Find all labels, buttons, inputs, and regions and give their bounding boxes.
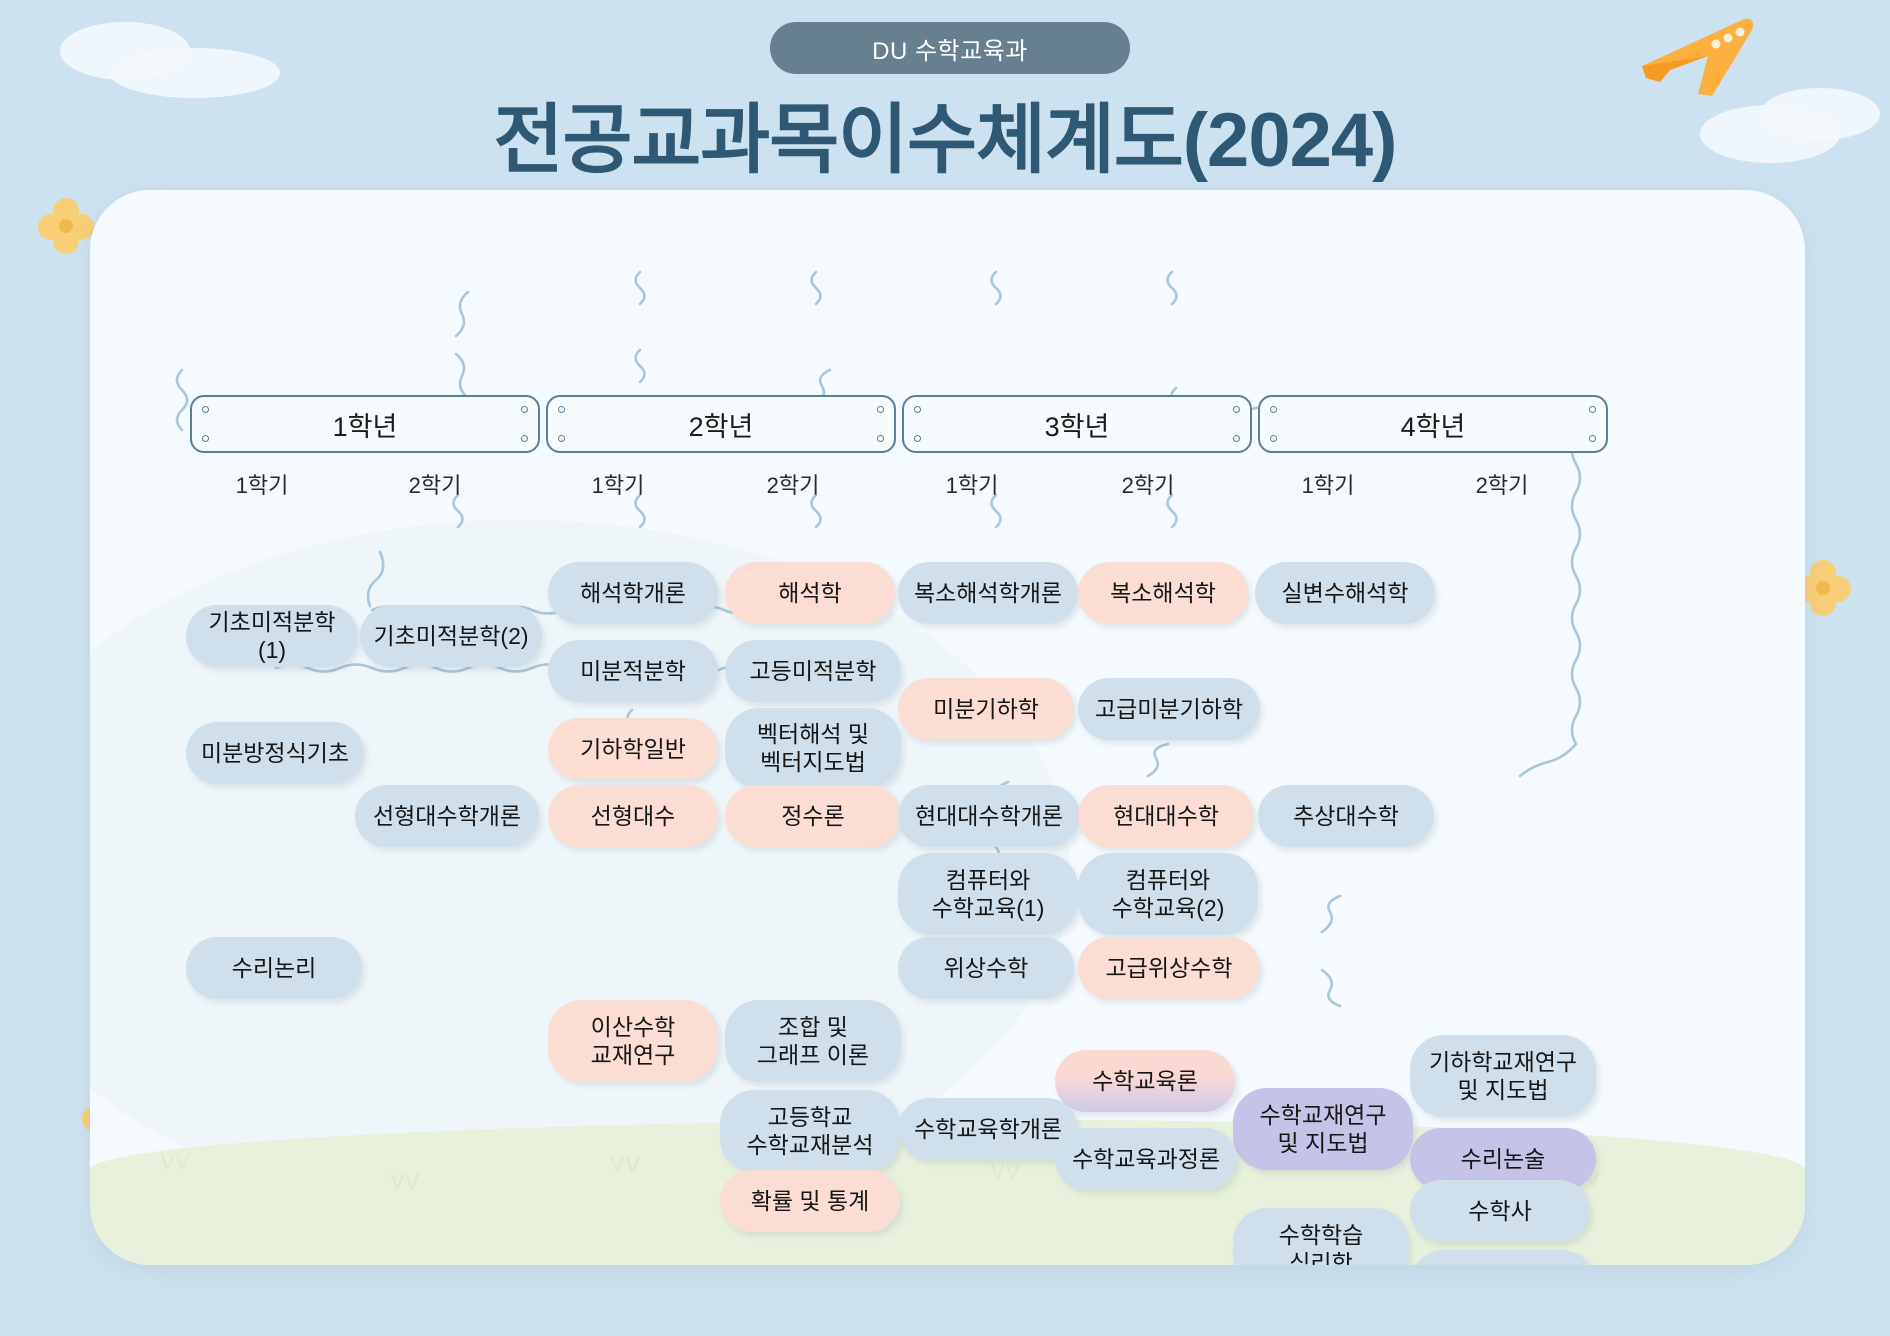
semester-label-y4s2: 2학기 [1442, 468, 1562, 500]
course-node[interactable]: 정수론 [725, 785, 901, 847]
course-node-label: 컴퓨터와 수학교육(1) [932, 866, 1045, 922]
course-node-label: 선형대수 [591, 802, 676, 830]
course-node[interactable]: 복소해석학개론 [898, 562, 1078, 624]
course-node-label: 수학교재연구 및 지도법 [1260, 1101, 1387, 1157]
course-node-label: 수학교육론 [1092, 1067, 1198, 1095]
course-node[interactable]: 컴퓨터와 수학교육(2) [1078, 853, 1258, 935]
course-node-label: 고등미적분학 [750, 657, 877, 685]
semester-label-y1s2: 2학기 [375, 468, 495, 500]
course-node[interactable]: 수학학습방법 및 평가 [1410, 1250, 1596, 1265]
course-node-label: 수리논술 [1461, 1145, 1546, 1173]
course-node-label: 현대대수학 [1113, 802, 1219, 830]
course-node-label: 현대대수학개론 [915, 802, 1063, 830]
semester-label-y3s2: 2학기 [1088, 468, 1208, 500]
department-badge-label: DU 수학교육과 [872, 31, 1028, 66]
course-node[interactable]: 수학교육과정론 [1055, 1128, 1237, 1190]
course-node-label: 추상대수학 [1293, 802, 1399, 830]
year-label: 4학년 [1401, 405, 1466, 444]
course-node[interactable]: 기초미적분학(1) [186, 605, 358, 667]
semester-label-y4s1: 1학기 [1268, 468, 1388, 500]
course-node[interactable]: 미분방정식기초 [186, 722, 364, 784]
course-node[interactable]: 수학교재연구 및 지도법 [1233, 1088, 1413, 1170]
course-node-label: 수학사 [1468, 1197, 1531, 1225]
course-node[interactable]: 현대대수학개론 [898, 785, 1080, 847]
course-node-label: 미분방정식기초 [201, 739, 349, 767]
course-node[interactable]: 미분적분학 [548, 640, 718, 702]
course-node-label: 기초미적분학(1) [196, 608, 348, 664]
year-header-row: 1학년 2학년 3학년 4학년 [190, 395, 1805, 453]
course-node[interactable]: 수학교육론 [1055, 1050, 1235, 1112]
course-node-label: 미분기하학 [933, 695, 1039, 723]
course-node[interactable]: 기하학일반 [548, 718, 718, 780]
course-node-label: 고급미분기하학 [1095, 695, 1243, 723]
course-node[interactable]: 현대대수학 [1078, 785, 1254, 847]
course-node-label: 수학학습방법 및 평가 [1440, 1263, 1567, 1265]
semester-label-y2s1: 1학기 [558, 468, 678, 500]
semester-label-y2s2: 2학기 [733, 468, 853, 500]
course-node-label: 고등학교 수학교재분석 [747, 1103, 874, 1159]
course-node[interactable]: 고등학교 수학교재분석 [720, 1090, 900, 1172]
course-node-label: 복소해석학개론 [914, 579, 1062, 607]
course-node-label: 기하학교재연구 및 지도법 [1429, 1048, 1577, 1104]
course-node[interactable]: 확률 및 통계 [720, 1170, 900, 1232]
page-title: 전공교과목이수체계도(2024) [0, 78, 1890, 188]
course-node[interactable]: 위상수학 [898, 937, 1074, 999]
year-label: 1학년 [333, 405, 398, 444]
grass-tuft: vv [390, 1165, 420, 1195]
grass-tuft: vv [610, 1148, 640, 1178]
course-node-label: 확률 및 통계 [751, 1187, 870, 1215]
course-node[interactable]: 해석학 [725, 562, 895, 624]
course-node-label: 수리논리 [232, 954, 317, 982]
course-node[interactable]: 고급위상수학 [1078, 937, 1260, 999]
course-node-label: 선형대수학개론 [373, 802, 521, 830]
diagram-card: vv vv vv vv vv vv vv vv vv .wv { fill:no… [90, 190, 1805, 1265]
course-node-label: 수학교육학개론 [914, 1115, 1062, 1143]
course-node[interactable]: 이산수학 교재연구 [548, 1000, 718, 1082]
course-node[interactable]: 해석학개론 [548, 562, 718, 624]
course-node-label: 정수론 [781, 802, 844, 830]
course-node[interactable]: 미분기하학 [898, 678, 1074, 740]
course-node[interactable]: 선형대수학개론 [355, 785, 539, 847]
course-node-label: 해석학 [778, 579, 841, 607]
course-node[interactable]: 컴퓨터와 수학교육(1) [898, 853, 1078, 935]
year-box-3: 3학년 [902, 395, 1252, 453]
course-node[interactable]: 선형대수 [548, 785, 718, 847]
course-node[interactable]: 기초미적분학(2) [360, 605, 542, 667]
course-node-label: 미분적분학 [580, 657, 686, 685]
course-node-label: 해석학개론 [580, 579, 686, 607]
course-node[interactable]: 고등미적분학 [725, 640, 901, 702]
course-node-label: 고급위상수학 [1106, 954, 1233, 982]
course-node[interactable]: 수학교육학개론 [898, 1098, 1078, 1160]
course-node[interactable]: 수리논리 [186, 937, 362, 999]
course-node-label: 복소해석학 [1110, 579, 1216, 607]
year-box-2: 2학년 [546, 395, 896, 453]
year-box-1: 1학년 [190, 395, 540, 453]
semester-label-y1s1: 1학기 [202, 468, 322, 500]
course-node[interactable]: 벡터해석 및 벡터지도법 [725, 708, 901, 788]
year-label: 3학년 [1045, 405, 1110, 444]
course-node[interactable]: 복소해석학 [1078, 562, 1248, 624]
course-node-label: 수학교육과정론 [1072, 1145, 1220, 1173]
course-node[interactable]: 수학사 [1410, 1180, 1590, 1242]
course-node-label: 위상수학 [944, 954, 1029, 982]
course-node-label: 벡터해석 및 벡터지도법 [757, 720, 869, 776]
course-node-label: 수학학습 심리학 [1279, 1221, 1364, 1265]
course-node[interactable]: 추상대수학 [1258, 785, 1434, 847]
course-node-label: 이산수학 교재연구 [591, 1013, 676, 1069]
department-badge: DU 수학교육과 [770, 22, 1130, 74]
course-node[interactable]: 수학학습 심리학 [1233, 1208, 1409, 1265]
flower-decoration [38, 198, 94, 254]
course-node-label: 조합 및 그래프 이론 [757, 1013, 869, 1069]
course-node-label: 실변수해석학 [1282, 579, 1409, 607]
course-node[interactable]: 실변수해석학 [1255, 562, 1435, 624]
course-node[interactable]: 기하학교재연구 및 지도법 [1410, 1035, 1596, 1117]
course-node-label: 컴퓨터와 수학교육(2) [1112, 866, 1225, 922]
course-node[interactable]: 조합 및 그래프 이론 [725, 1000, 901, 1082]
grass-tuft: vv [160, 1145, 190, 1175]
semester-label-y3s1: 1학기 [912, 468, 1032, 500]
course-node-label: 기초미적분학(2) [373, 622, 528, 650]
course-node[interactable]: 고급미분기하학 [1078, 678, 1260, 740]
course-node-label: 기하학일반 [580, 735, 686, 763]
year-box-4: 4학년 [1258, 395, 1608, 453]
year-label: 2학년 [689, 405, 754, 444]
